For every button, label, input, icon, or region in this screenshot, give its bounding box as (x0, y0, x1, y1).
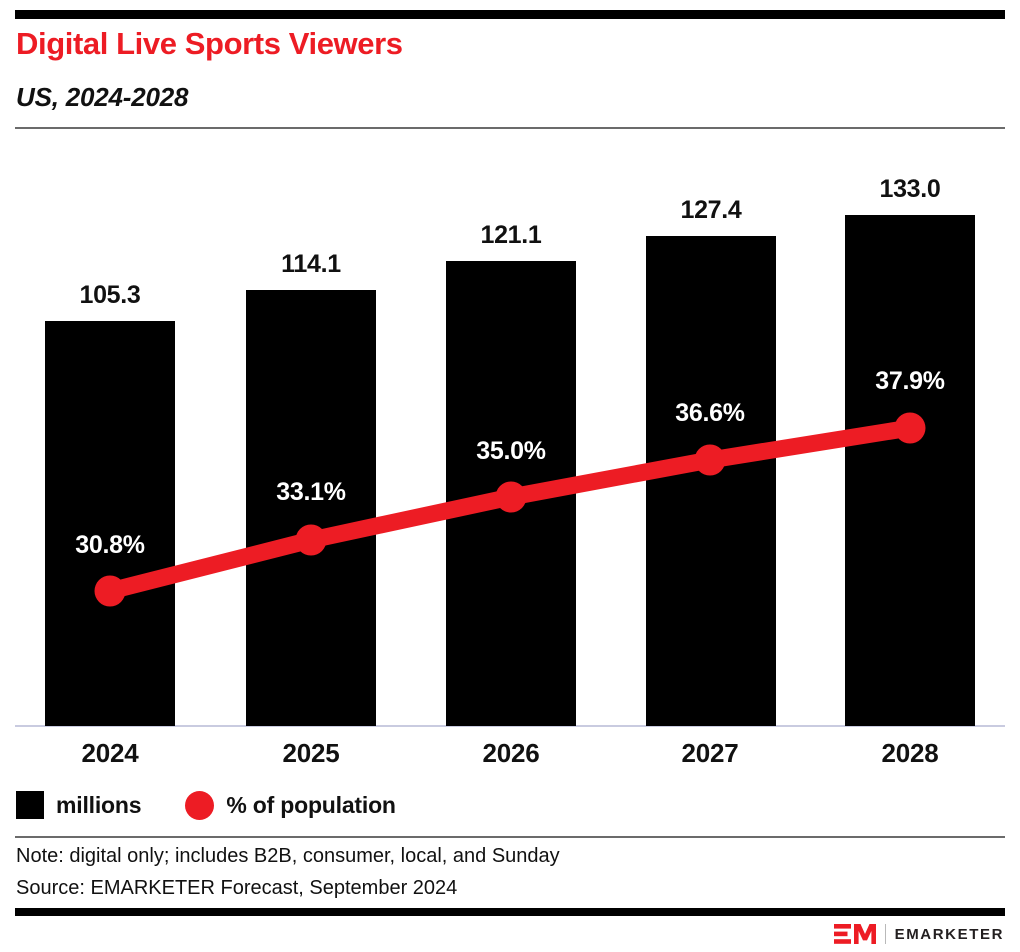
x-tick-2027: 2027 (630, 738, 790, 769)
x-tick-2026: 2026 (431, 738, 591, 769)
emarketer-brand: EMARKETER (834, 922, 1004, 946)
bar-2024 (45, 321, 175, 726)
bar-2026 (446, 261, 576, 726)
pct-label-2024: 30.8% (20, 531, 200, 560)
x-tick-2024: 2024 (30, 738, 190, 769)
pct-label-2026: 35.0% (421, 437, 601, 466)
chart-note: Note: digital only; includes B2B, consum… (16, 845, 560, 868)
legend-label-millions: millions (56, 792, 141, 819)
legend-label-percent-of-population: % of population (226, 792, 395, 819)
pct-label-2025: 33.1% (221, 478, 401, 507)
bar-2025 (246, 290, 376, 726)
x-tick-2025: 2025 (231, 738, 391, 769)
pct-label-2027: 36.6% (620, 399, 800, 428)
bar-value-2025: 114.1 (206, 250, 416, 279)
bar-2027 (646, 236, 776, 726)
bar-value-2028: 133.0 (805, 175, 1015, 204)
footer-divider (15, 836, 1005, 838)
chart-source: Source: EMARKETER Forecast, September 20… (16, 877, 457, 900)
chart-page: Digital Live Sports Viewers US, 2024-202… (0, 0, 1020, 952)
legend-circle-icon (185, 791, 214, 820)
x-tick-2028: 2028 (830, 738, 990, 769)
pct-label-2028: 37.9% (820, 367, 1000, 396)
legend-item-millions: millions (16, 791, 141, 819)
bar-value-2027: 127.4 (606, 196, 816, 225)
brand-divider (885, 924, 886, 944)
bar-value-2024: 105.3 (5, 281, 215, 310)
bar-2028 (845, 215, 975, 726)
bottom-divider (15, 908, 1005, 916)
legend-square-icon (16, 791, 44, 819)
bar-value-2026: 121.1 (406, 221, 616, 250)
chart-legend: millions % of population (16, 788, 440, 822)
brand-wordmark: EMARKETER (895, 926, 1004, 943)
legend-item-percent-of-population: % of population (185, 791, 395, 820)
emarketer-logo-icon (834, 923, 876, 945)
